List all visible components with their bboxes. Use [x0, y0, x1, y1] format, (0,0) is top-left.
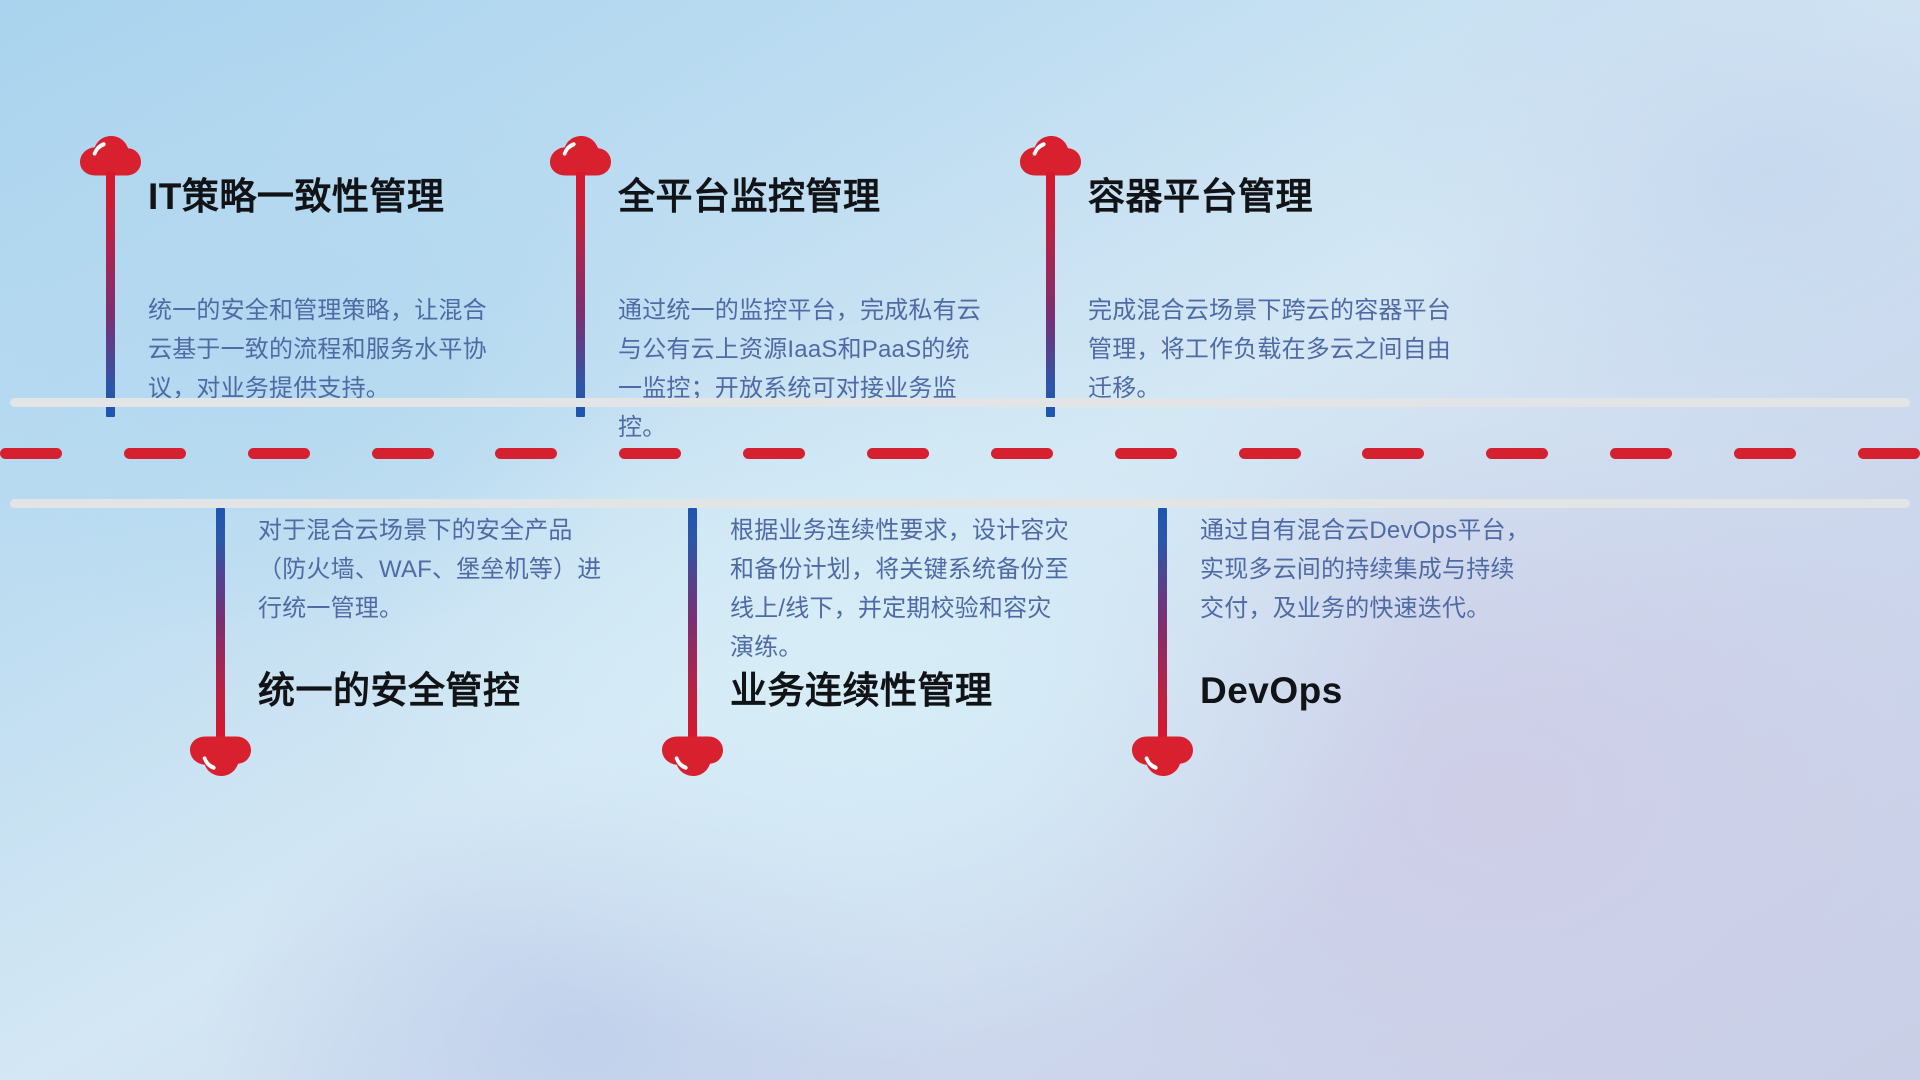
divider-dash [1858, 448, 1920, 459]
stem-business-continuity [688, 508, 697, 740]
divider-dash [248, 448, 310, 459]
body-unified-security: 对于混合云场景下的安全产品（防火墙、WAF、堡垒机等）进行统一管理。 [258, 512, 603, 629]
cloud-icon [1130, 736, 1196, 782]
divider-dash [991, 448, 1053, 459]
body-business-continuity: 根据业务连续性要求，设计容灾和备份计划，将关键系统备份至线上/线下，并定期校验和… [730, 512, 1075, 668]
divider-dash [1362, 448, 1424, 459]
stem-it-policy-consistency [106, 172, 115, 417]
divider-dash [495, 448, 557, 459]
divider-dash [372, 448, 434, 459]
cloud-icon [548, 130, 614, 176]
divider-dash [0, 448, 62, 459]
divider-dash [619, 448, 681, 459]
cloud-pin-it-policy-consistency [78, 130, 144, 176]
infographic-canvas: IT策略一致性管理 统一的安全和管理策略，让混合云基于一致的流程和服务水平协议，… [0, 0, 1920, 1080]
body-devops: 通过自有混合云DevOps平台，实现多云间的持续集成与持续交付，及业务的快速迭代… [1200, 512, 1530, 629]
divider-dash [867, 448, 929, 459]
body-container-platform: 完成混合云场景下跨云的容器平台管理，将工作负载在多云之间自由迁移。 [1088, 292, 1460, 409]
cloud-icon [78, 130, 144, 176]
stem-container-platform [1046, 172, 1055, 417]
cloud-icon [1018, 130, 1084, 176]
heading-it-policy-consistency: IT策略一致性管理 [148, 178, 444, 215]
body-it-policy-consistency: 统一的安全和管理策略，让混合云基于一致的流程和服务水平协议，对业务提供支持。 [148, 292, 493, 409]
divider-dash [1734, 448, 1796, 459]
cloud-icon [660, 736, 726, 782]
divider-rail-top [10, 398, 1910, 407]
divider-dash [124, 448, 186, 459]
stem-unified-security [216, 508, 225, 740]
divider-dash [1486, 448, 1548, 459]
heading-devops: DevOps [1200, 672, 1343, 709]
heading-unified-security: 统一的安全管控 [258, 672, 521, 709]
divider-dashes [0, 448, 1920, 459]
divider-rail-bottom [10, 499, 1910, 508]
heading-container-platform: 容器平台管理 [1088, 178, 1313, 215]
divider-dash [743, 448, 805, 459]
divider-dash [1610, 448, 1672, 459]
stem-full-platform-monitoring [576, 172, 585, 417]
dashed-road-divider [0, 398, 1920, 508]
stem-devops [1158, 508, 1167, 740]
cloud-pin-full-platform-monitoring [548, 130, 614, 176]
cloud-pin-container-platform [1018, 130, 1084, 176]
heading-full-platform-monitoring: 全平台监控管理 [618, 178, 881, 215]
divider-dash [1115, 448, 1177, 459]
heading-business-continuity: 业务连续性管理 [730, 672, 993, 709]
divider-dash [1239, 448, 1301, 459]
cloud-icon [188, 736, 254, 782]
